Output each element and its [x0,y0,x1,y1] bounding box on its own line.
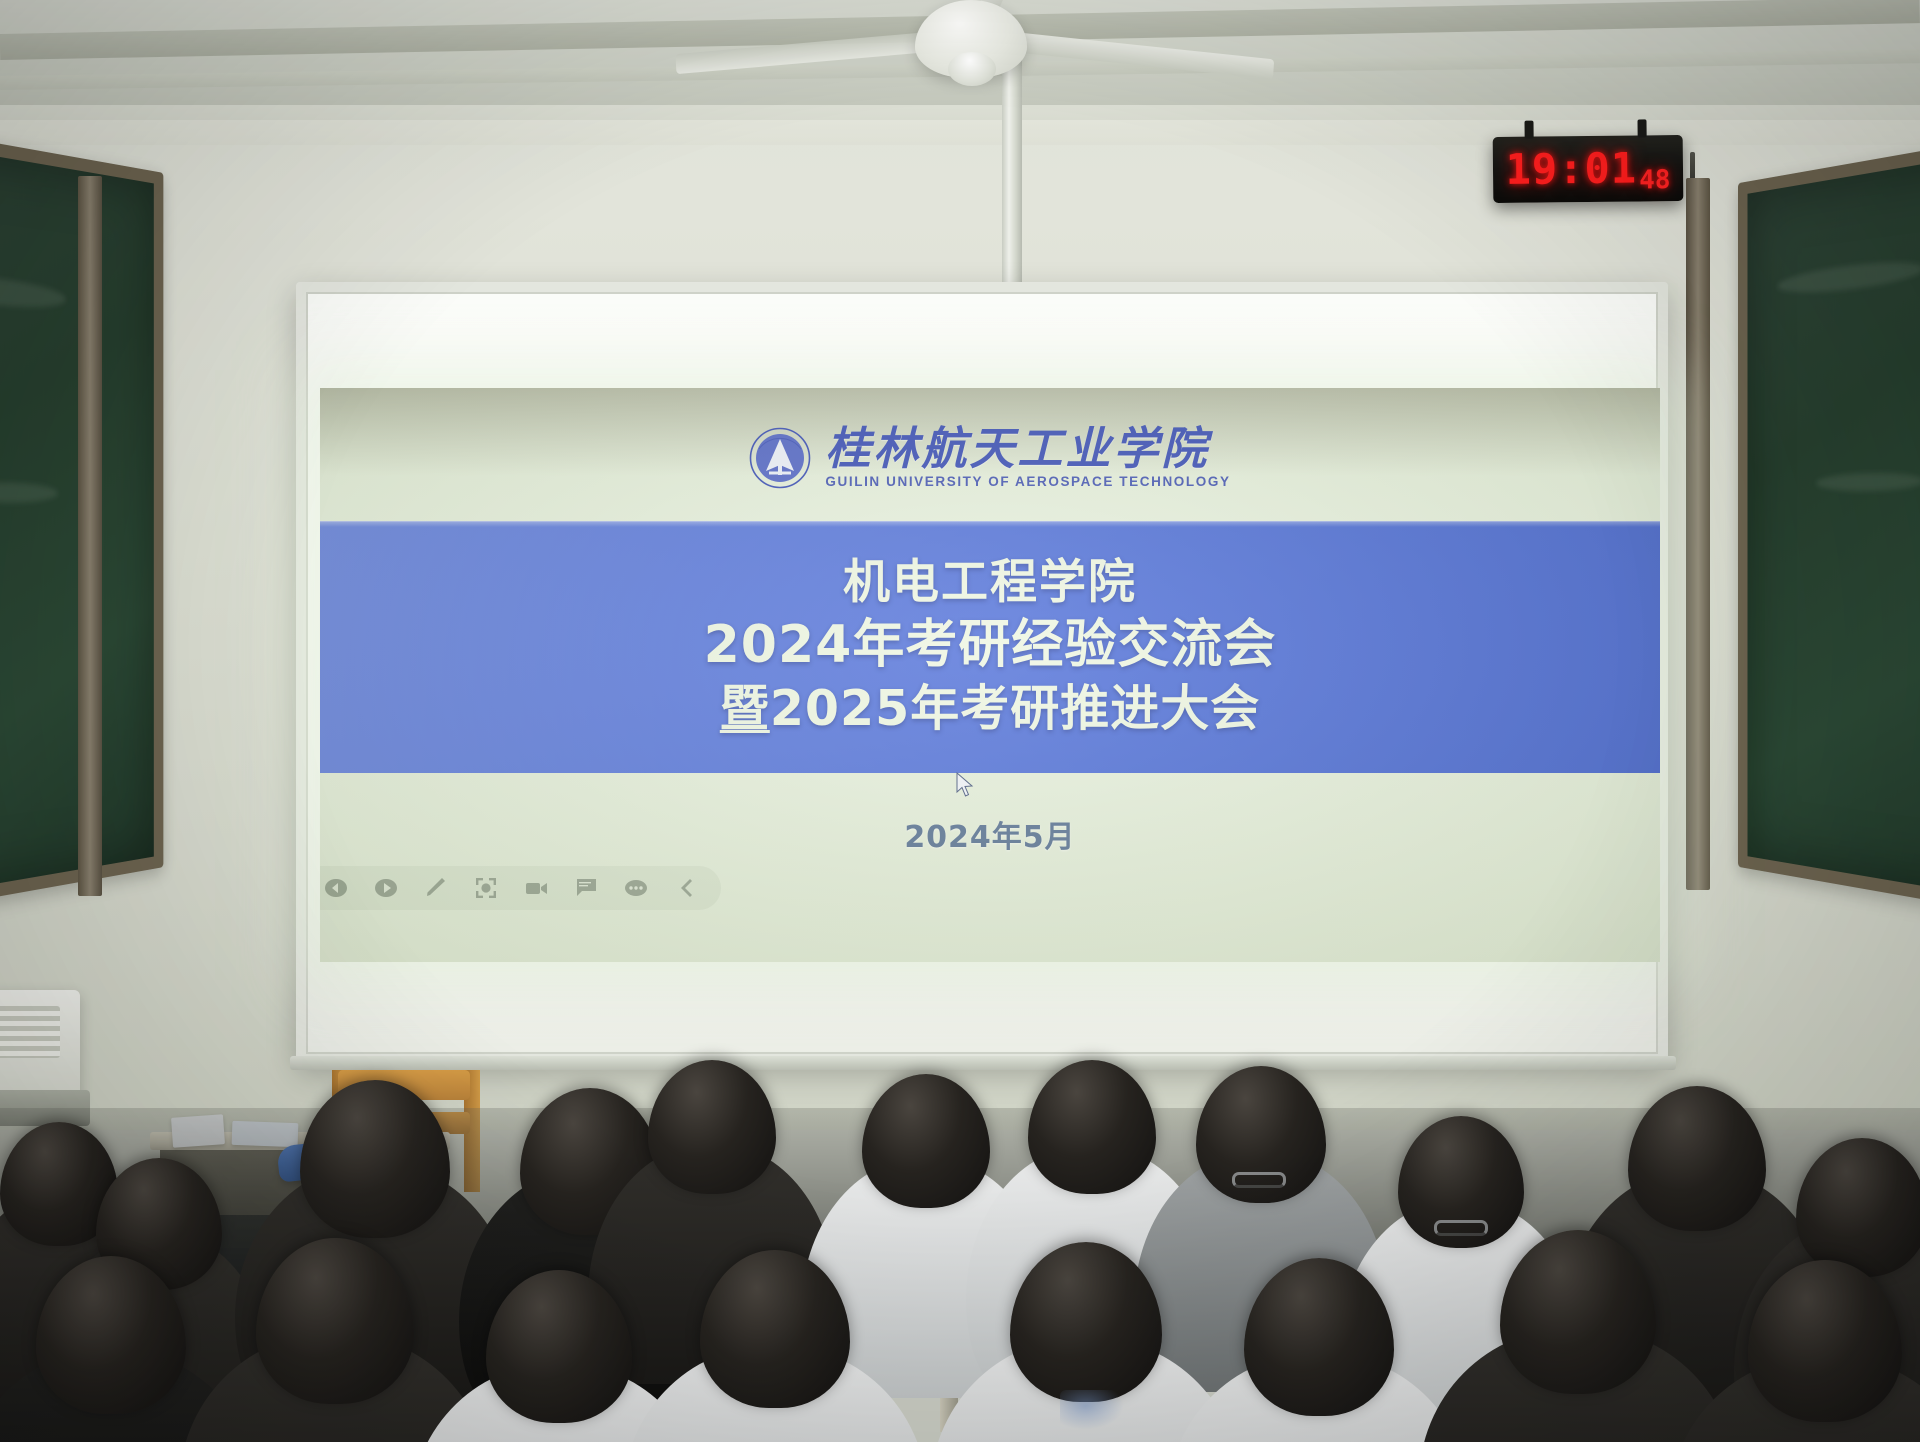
audience-member-head [862,1074,990,1208]
blackboard-right [1738,133,1920,916]
logo-chinese-name: 桂林航天工业学院 [825,426,1209,471]
more-options-icon[interactable] [623,875,649,901]
guilin-university-aerospace-crest-icon [749,427,811,489]
blackboard-left-frame [78,176,102,896]
ac-vent-grille [0,1006,60,1058]
audience-area [0,1060,1920,1442]
pen-annotate-icon[interactable] [423,875,449,901]
chalk-smudge [0,271,66,312]
logo-english-name: GUILIN UNIVERSITY OF AEROSPACE TECHNOLOG… [825,474,1230,489]
eyeglasses-icon [1434,1220,1488,1236]
blackboard-right-surface [1748,149,1920,900]
audience-member-head [648,1060,776,1194]
slide-title-line-2: 2024年考研经验交流会 [704,615,1277,675]
slide-logo: 桂林航天工业学院 GUILIN UNIVERSITY OF AEROSPACE … [320,426,1660,489]
fan-cap [948,52,996,86]
tshirt-print [1060,1390,1124,1430]
wall-digital-clock: 19:01 48 [1493,135,1684,203]
mouse-cursor [956,772,974,798]
spotlight-focus-icon[interactable] [473,875,499,901]
chalk-smudge [0,482,58,504]
eyeglasses-icon [1232,1172,1286,1188]
audience-member-head [1796,1138,1920,1277]
chalk-smudge [1777,256,1920,297]
comment-note-icon[interactable] [573,875,599,901]
blackboard-right-frame [1686,178,1710,890]
slide-logo-text: 桂林航天工业学院 GUILIN UNIVERSITY OF AEROSPACE … [825,426,1230,489]
collapse-left-icon[interactable] [673,875,699,901]
slide-title-band: 机电工程学院 2024年考研经验交流会 暨2025年考研推进大会 [320,521,1660,773]
audience-member-head [1028,1060,1156,1194]
play-slideshow-icon[interactable] [373,875,399,901]
projection-screen[interactable]: 桂林航天工业学院 GUILIN UNIVERSITY OF AEROSPACE … [320,388,1660,962]
blackboard-left-surface [0,140,154,900]
audience-member-head [1628,1086,1766,1231]
slide-title-line-3-underlined: 暨 [720,680,770,737]
fan-down-rod [1002,46,1022,306]
previous-slide-icon[interactable] [323,875,349,901]
classroom-photo-scene: 19:01 48 [0,0,1920,1442]
clock-seconds: 48 [1639,165,1671,195]
slide-date: 2024年5月 [320,812,1660,856]
slide-title-line-1: 机电工程学院 [843,556,1137,611]
slideshow-toolbar[interactable] [320,866,721,910]
slide-title-line-3-rest: 2025年考研推进大会 [770,680,1260,737]
slide-title-line-3: 暨2025年考研推进大会 [720,681,1260,738]
record-video-icon[interactable] [523,875,549,901]
chalk-smudge [1816,472,1920,492]
audience-member-head [300,1080,450,1238]
clock-time: 19:01 [1505,147,1637,190]
